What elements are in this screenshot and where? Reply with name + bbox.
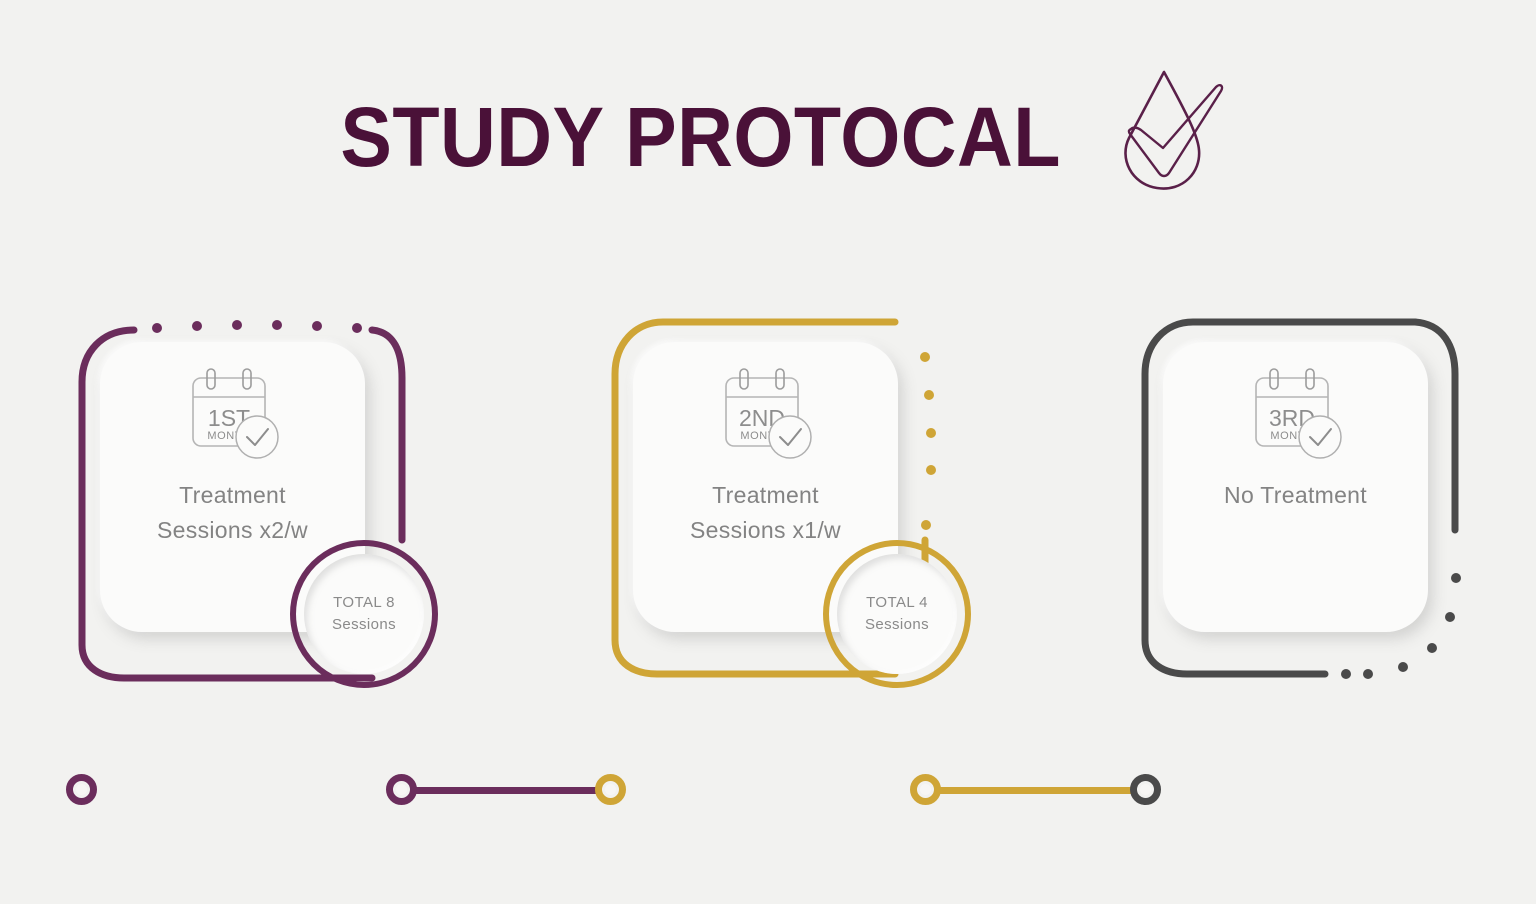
stage-2-label-line-1: Treatment: [690, 478, 841, 513]
badge-inner: TOTAL 8 Sessions: [304, 554, 424, 674]
droplet-checkmark-icon: [1117, 66, 1227, 196]
stage-2-total-badge[interactable]: TOTAL 4 Sessions: [823, 540, 971, 688]
stage-3-label-line-1: No Treatment: [1224, 478, 1367, 513]
badge-line-2: Sessions: [332, 614, 396, 636]
connector-stage1-stage2: [400, 787, 620, 794]
node-stage2-left[interactable]: [595, 774, 626, 805]
stage-3-calendar: 3RD MONTH: [1243, 364, 1348, 464]
stage-1-dotted-edge: [152, 320, 362, 333]
stage-1-label-line-2: Sessions x2/w: [157, 513, 308, 548]
stage-2-label: Treatment Sessions x1/w: [690, 478, 841, 547]
calendar-icon: 2ND MONTH: [713, 364, 818, 464]
node-stage1-left[interactable]: [66, 774, 97, 805]
page-title: STUDY PROTOCAL: [341, 95, 1062, 179]
check-circle-icon: [1299, 416, 1341, 458]
stage-1-label: Treatment Sessions x2/w: [157, 478, 308, 547]
stage-2-label-line-2: Sessions x1/w: [690, 513, 841, 548]
stage-1-month-1[interactable]: 1ST MONTH Treatment Sessions x2/w TOTAL …: [62, 300, 422, 720]
study-protocol-diagram: 1ST MONTH Treatment Sessions x2/w TOTAL …: [0, 300, 1536, 720]
stage-2-month-2[interactable]: 2ND MONTH Treatment Sessions x1/w TOTAL …: [595, 300, 955, 720]
check-circle-icon: [769, 416, 811, 458]
stage-2-calendar: 2ND MONTH: [713, 364, 818, 464]
calendar-icon: 3RD MONTH: [1243, 364, 1348, 464]
badge-line-2: Sessions: [865, 614, 929, 636]
node-stage1-right[interactable]: [386, 774, 417, 805]
stage-1-total-badge[interactable]: TOTAL 8 Sessions: [290, 540, 438, 688]
badge-line-1: TOTAL 8: [333, 592, 395, 614]
calendar-icon: 1ST MONTH: [180, 364, 285, 464]
page-header: STUDY PROTOCAL: [0, 78, 1536, 196]
badge-line-1: TOTAL 4: [866, 592, 928, 614]
stage-2-dotted-edge: [920, 352, 936, 530]
stage-3-month-3[interactable]: 3RD MONTH No Treatment: [1125, 300, 1485, 720]
node-stage2-right[interactable]: [910, 774, 941, 805]
stage-1-label-line-1: Treatment: [157, 478, 308, 513]
node-stage3-left[interactable]: [1130, 774, 1161, 805]
connector-stage2-stage3: [925, 787, 1145, 794]
stage-3-card: 3RD MONTH No Treatment: [1163, 342, 1428, 632]
stage-3-label: No Treatment: [1224, 478, 1367, 513]
check-circle-icon: [236, 416, 278, 458]
badge-inner: TOTAL 4 Sessions: [837, 554, 957, 674]
stage-1-calendar: 1ST MONTH: [180, 364, 285, 464]
